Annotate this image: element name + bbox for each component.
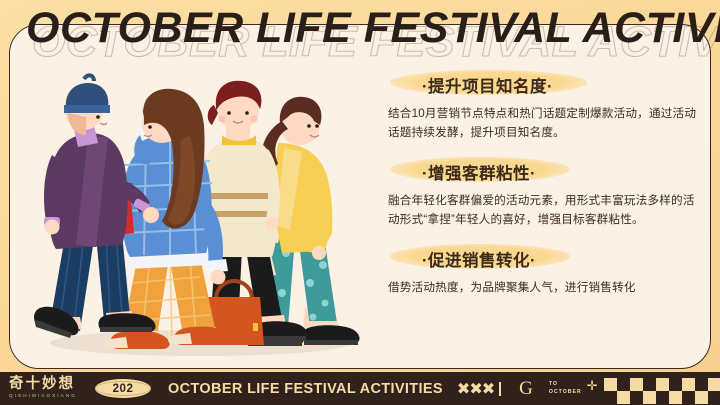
- footer-title: OCTOBER LIFE FESTIVAL ACTIVITIES: [168, 381, 443, 397]
- illustration-people-walking: [10, 25, 385, 369]
- content-block-2: ·增强客群粘性· 融合年轻化客群偏爱的活动元素，用形式丰富玩法多样的活动形式“拿…: [388, 158, 700, 229]
- main-panel: ·提升项目知名度· 结合10月营销节点特点和热门话题定制爆款活动，通过活动话题持…: [9, 24, 711, 369]
- brand-logo-cn: 奇十妙想: [9, 377, 81, 392]
- illustration-svg: [10, 25, 385, 369]
- to-october-label: TO OCTOBER: [549, 381, 582, 396]
- page-title: OCTOBER LIFE FESTIVAL ACTIVITIES: [26, 4, 720, 53]
- content-column: ·提升项目知名度· 结合10月营销节点特点和热门话题定制爆款活动，通过活动话题持…: [388, 71, 700, 313]
- brand-logo[interactable]: 奇十妙想 QISHIMIAOXIANG: [9, 377, 81, 400]
- to-label: TO: [549, 381, 582, 389]
- content-block-2-body: 融合年轻化客群偏爱的活动元素，用形式丰富玩法多样的活动形式“拿捏”年轻人的喜好，…: [388, 191, 700, 229]
- divider-bar: [499, 382, 501, 396]
- plus-icon: ✛: [587, 378, 598, 394]
- content-block-3-heading: ·促进销售转化·: [400, 245, 554, 273]
- x-marks-icon: ✖✖✖: [457, 379, 494, 399]
- page-title-area: OCTOBER LIFE FESTIVAL ACTIVITIES OCTOBER…: [0, 0, 720, 58]
- year-badge-text: 202: [113, 383, 134, 395]
- october-label: OCTOBER: [549, 389, 582, 397]
- content-block-2-heading: ·增强客群粘性·: [400, 158, 554, 186]
- brand-logo-en: QISHIMIAOXIANG: [9, 392, 81, 400]
- content-block-1-body: 结合10月营销节点特点和热门话题定制爆款活动，通过活动话题持续发酵，提升项目知名…: [388, 104, 700, 142]
- content-block-1: ·提升项目知名度· 结合10月营销节点特点和热门话题定制爆款活动，通过活动话题持…: [388, 71, 700, 142]
- content-block-3-body: 借势活动热度，为品牌聚集人气，进行销售转化: [388, 278, 700, 297]
- footer-bar: 奇十妙想 QISHIMIAOXIANG 202 OCTOBER LIFE FES…: [0, 372, 720, 405]
- content-block-1-heading: ·提升项目知名度·: [400, 71, 571, 99]
- checker-pattern: [602, 372, 720, 405]
- letter-g-icon: G: [519, 378, 533, 400]
- content-block-3: ·促进销售转化· 借势活动热度，为品牌聚集人气，进行销售转化: [388, 245, 700, 297]
- year-badge: 202: [95, 379, 151, 398]
